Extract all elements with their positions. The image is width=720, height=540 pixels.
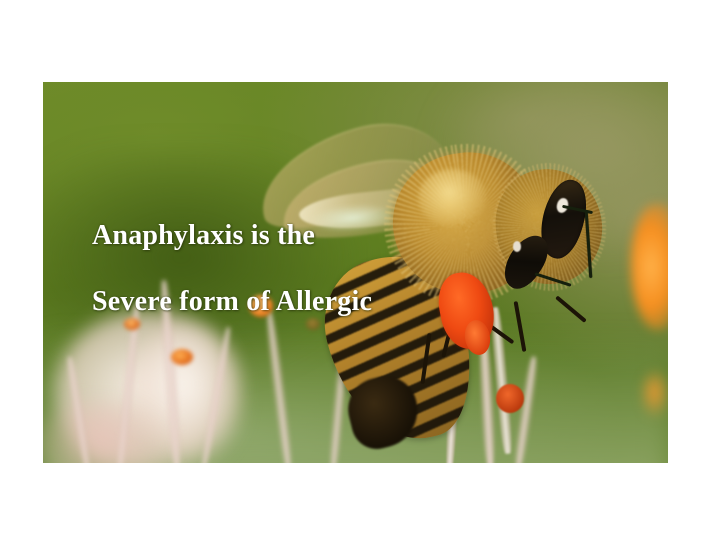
bee-pollen-speck	[496, 384, 524, 413]
bee-leg	[514, 301, 527, 352]
page-root: Anaphylaxis is the Severe form of Allerg…	[0, 0, 720, 540]
caption-overlay: Anaphylaxis is the Severe form of Allerg…	[92, 222, 512, 316]
caption-line-1: Anaphylaxis is the	[92, 222, 512, 250]
flower-anther	[306, 318, 320, 330]
bee-thorax-highlight	[418, 169, 487, 227]
flower-anther	[171, 349, 193, 365]
bee-leg	[555, 295, 586, 322]
caption-line-2: Severe form of Allergic	[92, 288, 512, 316]
photo-container: Anaphylaxis is the Severe form of Allerg…	[43, 82, 668, 463]
